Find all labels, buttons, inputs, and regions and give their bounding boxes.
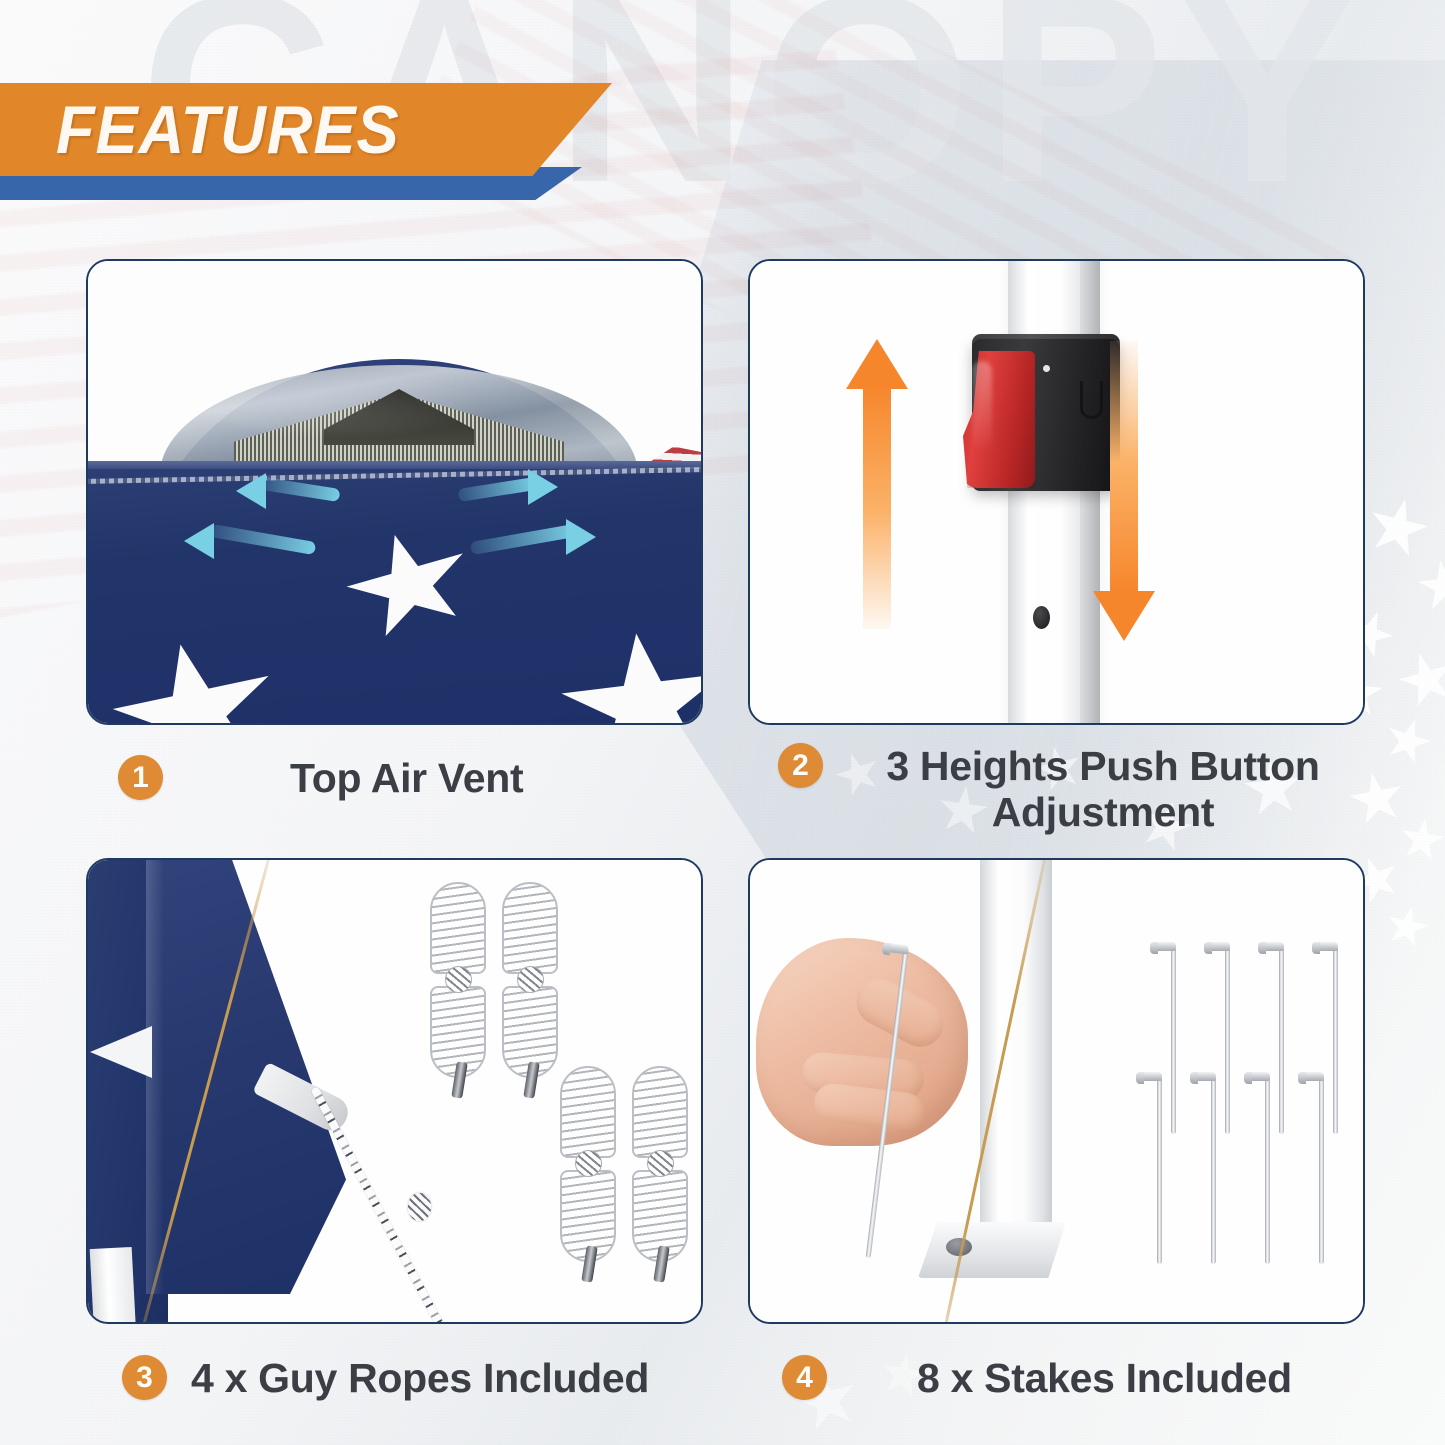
caption-2-text: 3 Heights Push Button Adjustment: [868, 743, 1338, 836]
canopy-corner-flap: [146, 858, 346, 1294]
caption-4: 4 8 x Stakes Included: [782, 1355, 1367, 1401]
pole-adjustment-hole-icon: [1033, 606, 1050, 629]
feature-infographic-page: CANOPY FEATURES: [0, 0, 1445, 1445]
canopy-leg-pole-icon: [980, 858, 1052, 1266]
badge-4: 4: [782, 1355, 827, 1400]
push-button-adjustment-photo: [750, 261, 1363, 723]
guy-rope-knot-icon: [408, 1193, 431, 1221]
leg-foot-plate-icon: [918, 1222, 1066, 1278]
caption-1-text: Top Air Vent: [290, 755, 523, 801]
caption-3: 3 4 x Guy Ropes Included: [122, 1355, 707, 1401]
ground-stake-8: [1296, 1068, 1346, 1264]
rope-coil-1: [430, 882, 486, 1082]
feature-panel-4-stakes: [748, 858, 1365, 1324]
arrow-down-icon: [1093, 341, 1155, 641]
ground-stake-7: [1242, 1068, 1292, 1264]
feature-panel-2-push-button: [748, 259, 1365, 725]
caption-1: 1 Top Air Vent: [118, 755, 703, 801]
rope-coil-3: [560, 1066, 616, 1266]
caption-2-line-2: Adjustment: [868, 789, 1338, 835]
canopy-leg-bottom: [90, 1247, 137, 1324]
banner-orange-bar: FEATURES: [0, 83, 612, 176]
housing-pin-dot: [1043, 365, 1050, 372]
caption-2: 2 3 Heights Push Button Adjustment: [778, 743, 1368, 836]
rope-coil-2: [502, 882, 558, 1082]
ground-stake-6: [1188, 1068, 1238, 1264]
guy-ropes-photo: [88, 860, 701, 1322]
red-button-highlight: [972, 361, 992, 449]
stakes-photo: [750, 860, 1363, 1322]
caption-2-line-1: 3 Heights Push Button: [868, 743, 1338, 789]
rope-coil-4: [632, 1066, 688, 1266]
caption-3-text: 4 x Guy Ropes Included: [191, 1355, 649, 1401]
arrow-up-icon: [846, 339, 908, 629]
badge-3: 3: [122, 1355, 167, 1400]
badge-2: 2: [778, 743, 823, 788]
page-title: FEATURES: [56, 91, 400, 169]
feature-panel-1-top-air-vent: [86, 259, 703, 725]
ground-stake-5: [1134, 1068, 1184, 1264]
badge-1: 1: [118, 755, 163, 800]
dome-highlight: [188, 365, 488, 435]
top-air-vent-photo: [88, 261, 701, 723]
feature-panel-3-guy-ropes: [86, 858, 703, 1324]
caption-4-text: 8 x Stakes Included: [917, 1355, 1292, 1401]
